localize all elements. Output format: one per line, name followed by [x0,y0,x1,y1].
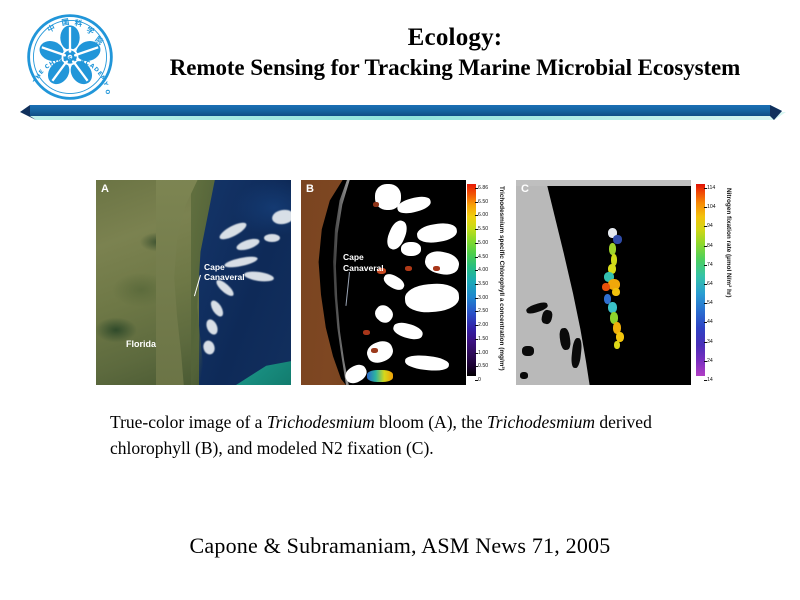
colorbar-tick-label: 1.00 [478,350,488,356]
chlorophyll-bloom [363,330,370,335]
chinese-academy-of-sciences-logo: 中 国 科 学 院 THE CHINESE ACADEMY OF SCIENCE… [26,13,114,101]
chlorophyll-bloom [433,266,440,271]
panel-c-nitrogen-fixation-image: C [516,180,691,385]
slide-canvas: 中 国 科 学 院 THE CHINESE ACADEMY OF SCIENCE… [0,0,800,600]
colorbar-tick-label: 3.50 [478,281,488,287]
figure-caption: True-color image of a Trichodesmium bloo… [110,409,710,461]
colorbar-tick-label: 6.00 [478,212,488,218]
cloud [404,282,460,314]
colorbar-tick-label: 2.00 [478,322,488,328]
svg-text:国: 国 [61,17,70,27]
svg-text:科: 科 [74,17,83,28]
cloud [372,302,396,326]
nitrogen-fixation-bloom [612,288,620,296]
cloud [401,242,421,256]
colorbar-c-title: Nitrogen fixation rate (µmol N/m² hr) [724,188,732,374]
colorbar-tick-label: 3.00 [478,295,488,301]
colorbar-tick-label: 0 [478,377,481,383]
nitrogen-fixation-bloom [602,283,610,291]
colorbar-tick-label: 94 [707,223,713,229]
chlorophyll-bloom [373,202,379,207]
cloud [416,221,458,244]
chlorophyll-bloom [405,266,412,271]
label-leader-line-b [345,272,350,306]
title-line-1: Ecology: [110,22,800,53]
caption-part-2: bloom (A), the [375,412,487,432]
nitrogen-fixation-bloom [613,235,622,244]
cape-canaveral-label-a: CapeCanaveral [204,262,245,282]
cloud [423,249,461,278]
colorbar-tick-label: 2.50 [478,308,488,314]
colorbar-tick-label: 24 [707,358,713,364]
colorbar-b-gradient [467,184,476,376]
cape-canaveral-label-b: CapeCanaveral [343,252,384,273]
cloud [396,194,432,216]
chlorophyll-bloom [371,348,378,353]
caption-part-1: True-color image of a [110,412,267,432]
colorbar-tick-label: 84 [707,243,713,249]
colorbar-tick-label: 44 [707,319,713,325]
colorbar-tick-label: 114 [707,185,715,191]
title-line-2: Remote Sensing for Tracking Marine Micro… [110,53,800,83]
cloud [364,338,395,366]
colorbar-tick-label: 64 [707,281,713,287]
colorbar-tick-label: 104 [707,204,716,210]
citation-text: Capone & Subramaniam, ASM News 71, 2005 [0,533,800,559]
colorbar-c-gradient [696,184,705,376]
colorbar-tick-label: 0.50 [478,363,488,369]
lagoon [520,372,528,379]
panel-c-letter: C [521,183,529,195]
cloud [381,271,406,292]
colorbar-tick-label: 1.50 [478,336,488,342]
colorbar-tick-label: 5.50 [478,226,488,232]
colorbar-tick-label: 6.50 [478,199,488,205]
colorbar-tick-label: 4.00 [478,267,488,273]
florida-label-a: Florida [126,339,156,349]
panel-b-letter: B [306,183,314,195]
colorbar-tick-label: 4.50 [478,254,488,260]
colorbar-tick-label: 74 [707,262,713,268]
colorbar-tick-label: 6.86 [478,185,488,191]
colorbar-tick-label: 54 [707,300,713,306]
colorbar-tick-label: 34 [707,339,713,345]
chlorophyll-bloom [367,370,393,382]
cloud [404,354,449,373]
caption-italic-2: Trichodesmium [487,412,595,432]
cloud [392,320,425,342]
figure-container: A CapeCanaveral Florida [96,180,716,385]
nitrogen-fixation-bloom [614,341,620,349]
lagoon [522,346,534,356]
slide-title: Ecology: Remote Sensing for Tracking Mar… [110,22,800,83]
colorbar-tick-label: 5.00 [478,240,488,246]
title-divider-bar [14,103,786,120]
colorbar-tick-label: 14 [707,377,713,383]
cloud [264,234,280,242]
panel-a-letter: A [101,183,109,195]
panel-a-true-color-image: A CapeCanaveral Florida [96,180,291,385]
caption-italic-1: Trichodesmium [267,412,375,432]
panel-b-chlorophyll-image: B CapeCanaveral [301,180,466,385]
colorbar-b-title: Trichodesmium specific Chlorophyll a con… [497,186,505,376]
